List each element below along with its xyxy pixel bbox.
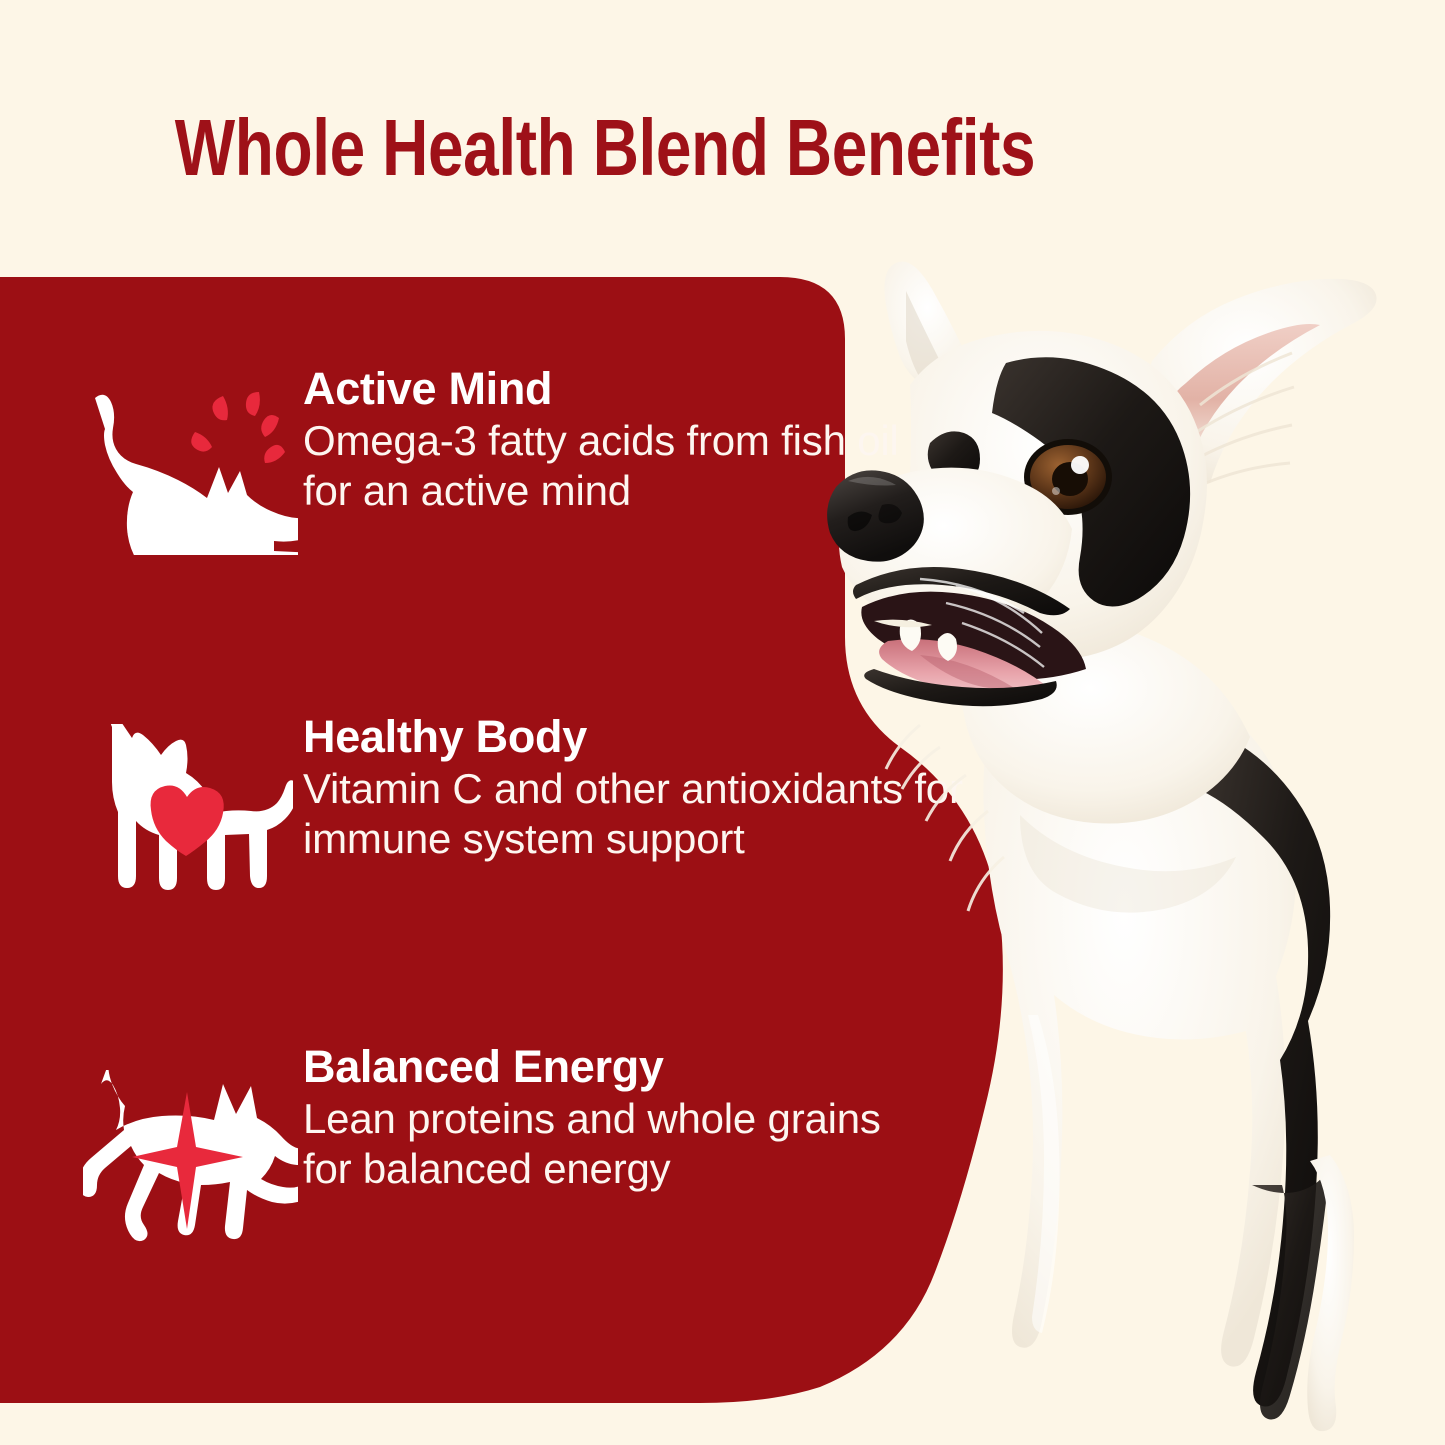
dog-play-bow-spark-icon [78,358,303,555]
benefit-item-balanced-energy: Balanced Energy Lean proteins and whole … [78,1036,908,1245]
benefit-text: Balanced Energy Lean proteins and whole … [303,1036,908,1193]
benefit-title: Balanced Energy [303,1042,908,1092]
benefit-item-active-mind: Active Mind Omega-3 fatty acids from fis… [78,358,908,555]
page-title: Whole Health Blend Benefits [121,108,1089,188]
dog-standing-heart-icon [78,706,303,909]
benefit-text: Healthy Body Vitamin C and other antioxi… [303,706,998,863]
benefit-description: Omega-3 fatty acids from fish oil for an… [303,416,908,514]
benefit-text: Active Mind Omega-3 fatty acids from fis… [303,358,908,515]
benefit-description: Lean proteins and whole grains for balan… [303,1094,908,1192]
benefit-item-healthy-body: Healthy Body Vitamin C and other antioxi… [78,706,998,909]
promo-graphic: Whole Health Blend Benefits Active Mind … [0,0,1445,1445]
benefit-title: Active Mind [303,364,908,414]
benefit-description: Vitamin C and other antioxidants for imm… [303,764,998,862]
dog-trotting-sparkle-icon [78,1036,303,1245]
benefit-title: Healthy Body [303,712,998,762]
